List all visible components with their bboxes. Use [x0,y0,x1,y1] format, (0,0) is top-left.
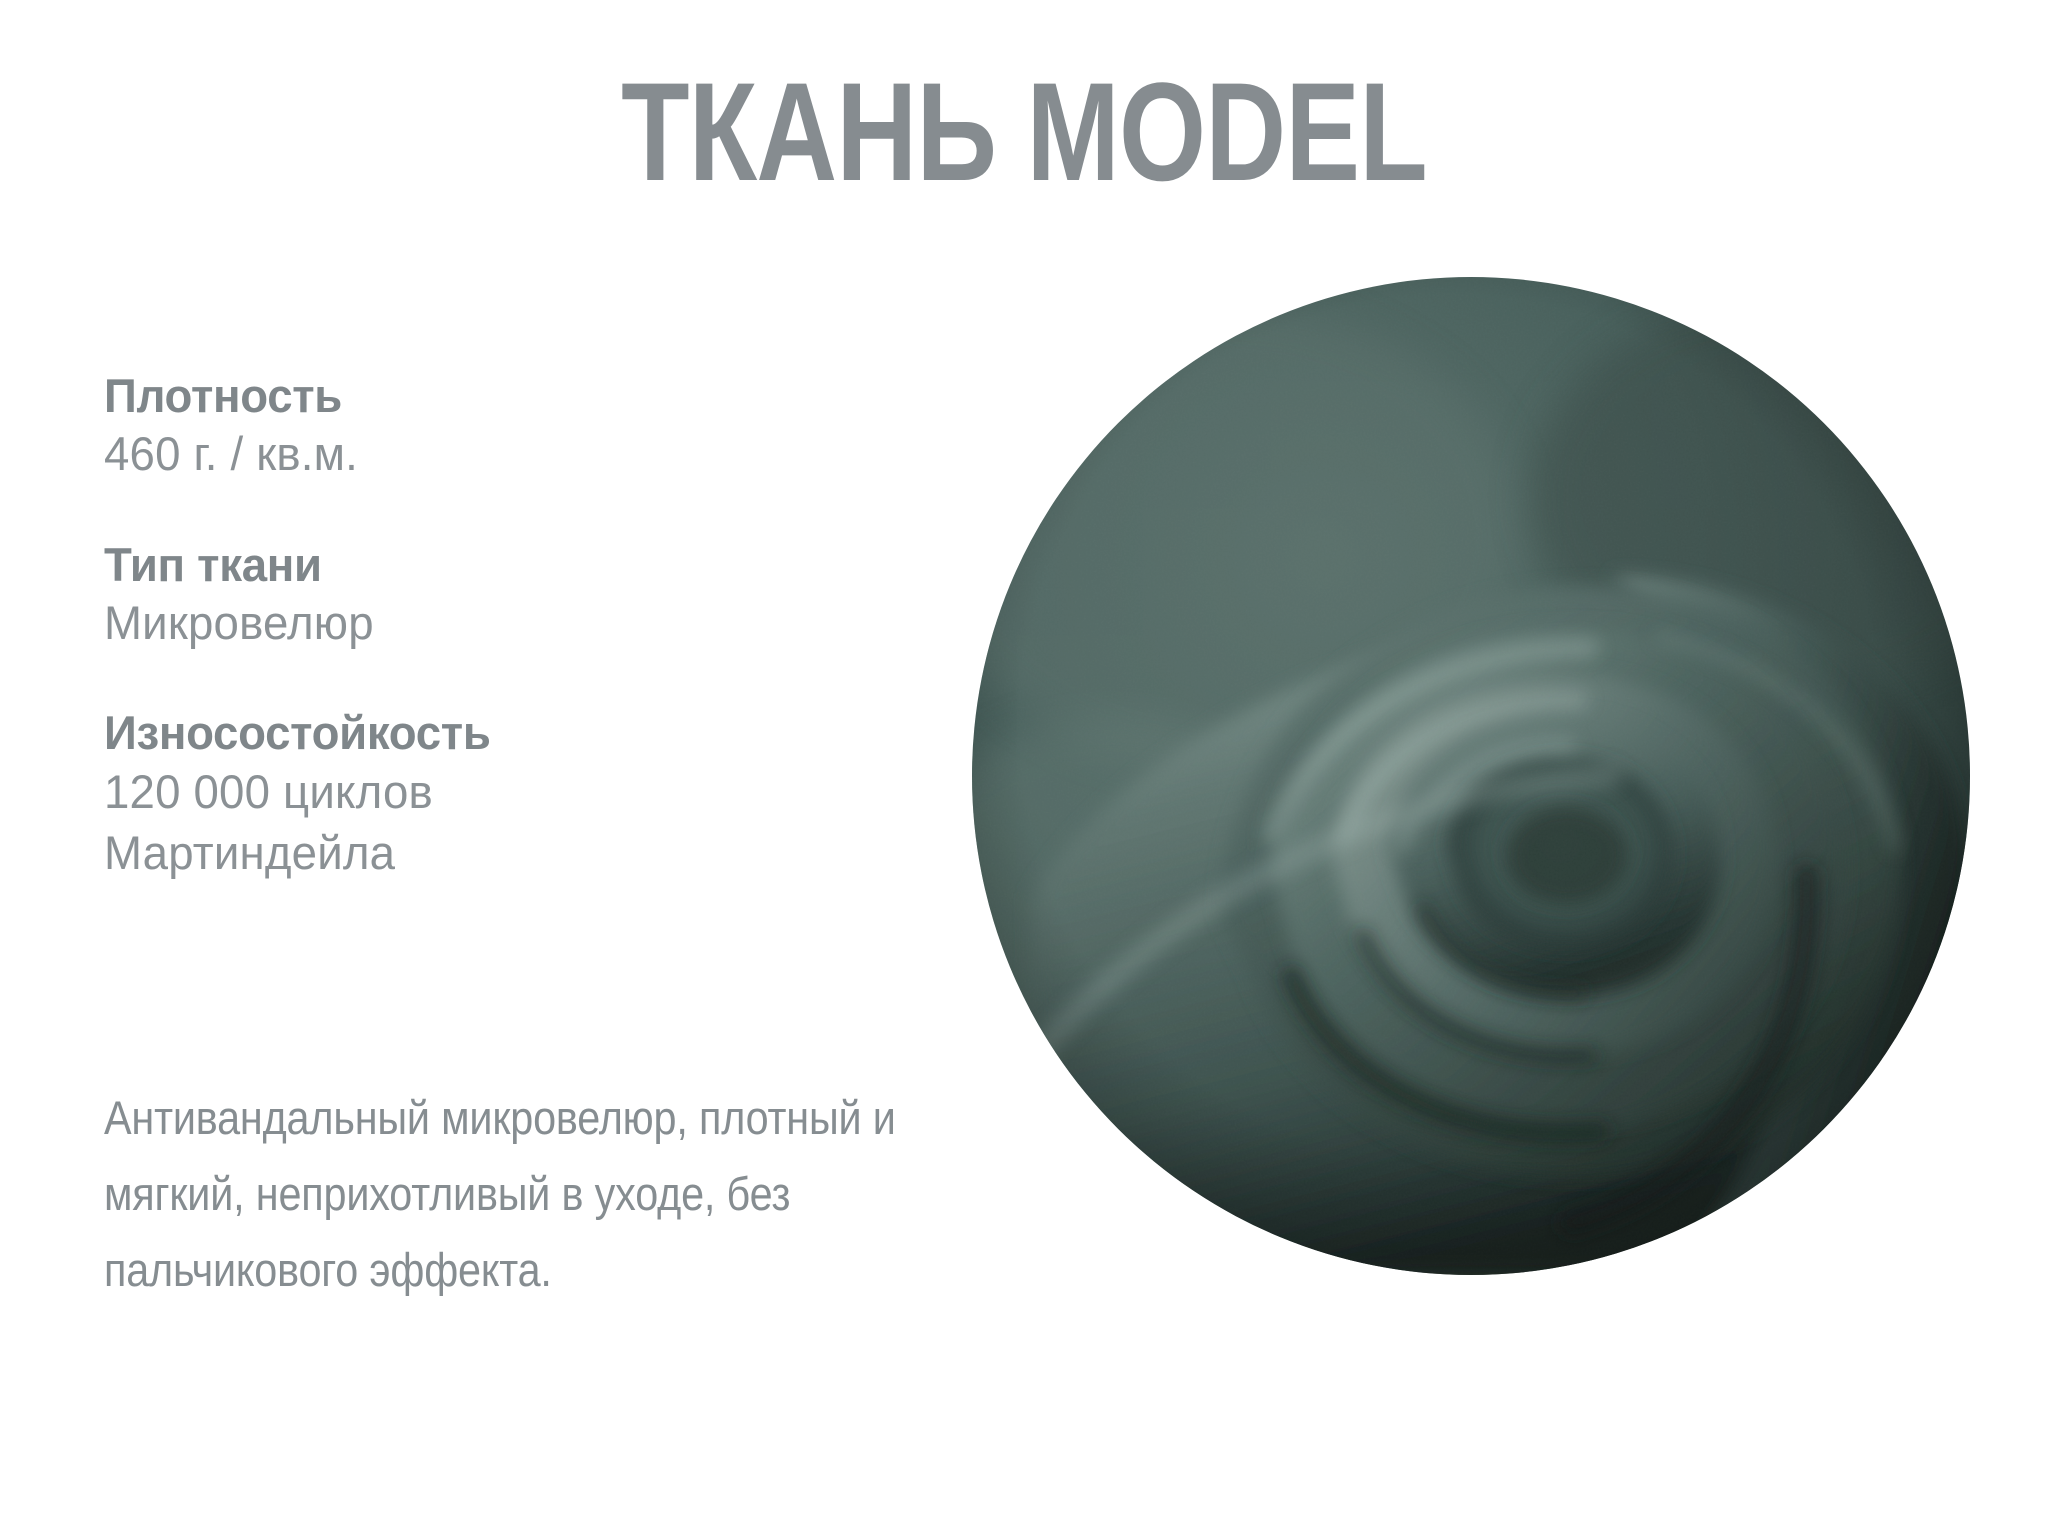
spec-value-density: 460 г. / кв.м. [104,423,919,484]
spec-value-fabric-type: Микровелюр [104,592,919,653]
spec-label-density: Плотность [104,368,919,423]
spec-item-fabric-type: Тип ткани Микровелюр [104,537,944,654]
spec-value-abrasion: 120 000 циклов Мартиндейла [104,761,919,883]
fabric-photo-image [972,277,1970,1275]
description-text: Антивандальный микровелюр, плотный и мяг… [104,1080,949,1308]
spec-list: Плотность 460 г. / кв.м. Тип ткани Микро… [104,368,944,883]
spec-label-fabric-type: Тип ткани [104,537,919,592]
spec-label-abrasion: Износостойкость [104,705,919,760]
slide-root: ТКАНЬ MODEL Плотность 460 г. / кв.м. Тип… [0,0,2048,1536]
page-title: ТКАНЬ MODEL [205,58,1843,205]
spec-item-density: Плотность 460 г. / кв.м. [104,368,944,485]
fabric-photo [972,277,1970,1275]
spec-item-abrasion: Износостойкость 120 000 циклов Мартиндей… [104,705,944,883]
